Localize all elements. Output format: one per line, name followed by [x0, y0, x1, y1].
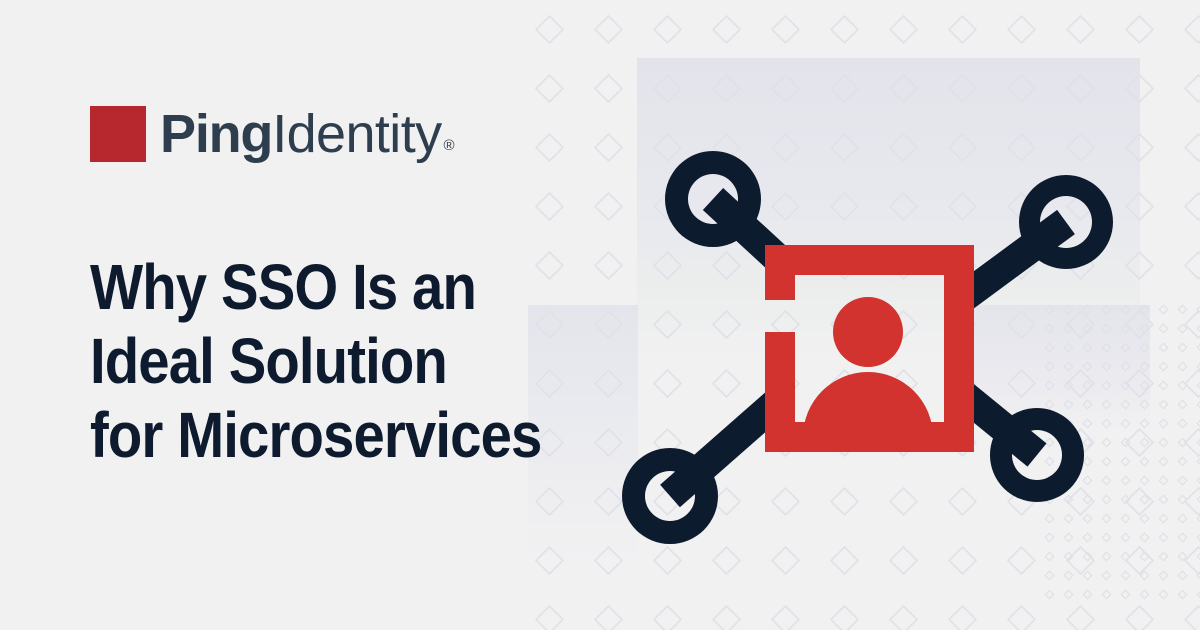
social-card-canvas: PingIdentity® Why SSO Is an Ideal Soluti…: [0, 0, 1200, 630]
page-title: Why SSO Is an Ideal Solution for Microse…: [90, 255, 504, 477]
logo-word-identity: Identity: [272, 107, 441, 161]
logo-wordmark: PingIdentity®: [160, 107, 455, 161]
frame-top-bar: [765, 245, 974, 275]
logo-mark-square-icon: [90, 106, 146, 162]
avatar-body: [803, 372, 933, 437]
headline-line-1: Why SSO Is an: [90, 255, 504, 319]
registered-trademark-icon: ®: [444, 138, 455, 153]
microservices-sso-illustration: [600, 130, 1120, 550]
avatar-head: [833, 297, 903, 367]
logo-word-ping: Ping: [160, 107, 272, 161]
headline-line-2: Ideal Solution: [90, 329, 504, 393]
frame-right-bar: [944, 245, 974, 452]
frame-left-bar-upper: [765, 245, 795, 300]
ping-identity-logo[interactable]: PingIdentity®: [90, 106, 455, 162]
frame-left-bar-lower: [765, 332, 795, 452]
headline-line-3: for Microservices: [90, 403, 504, 467]
avatar-icon: [803, 297, 933, 437]
